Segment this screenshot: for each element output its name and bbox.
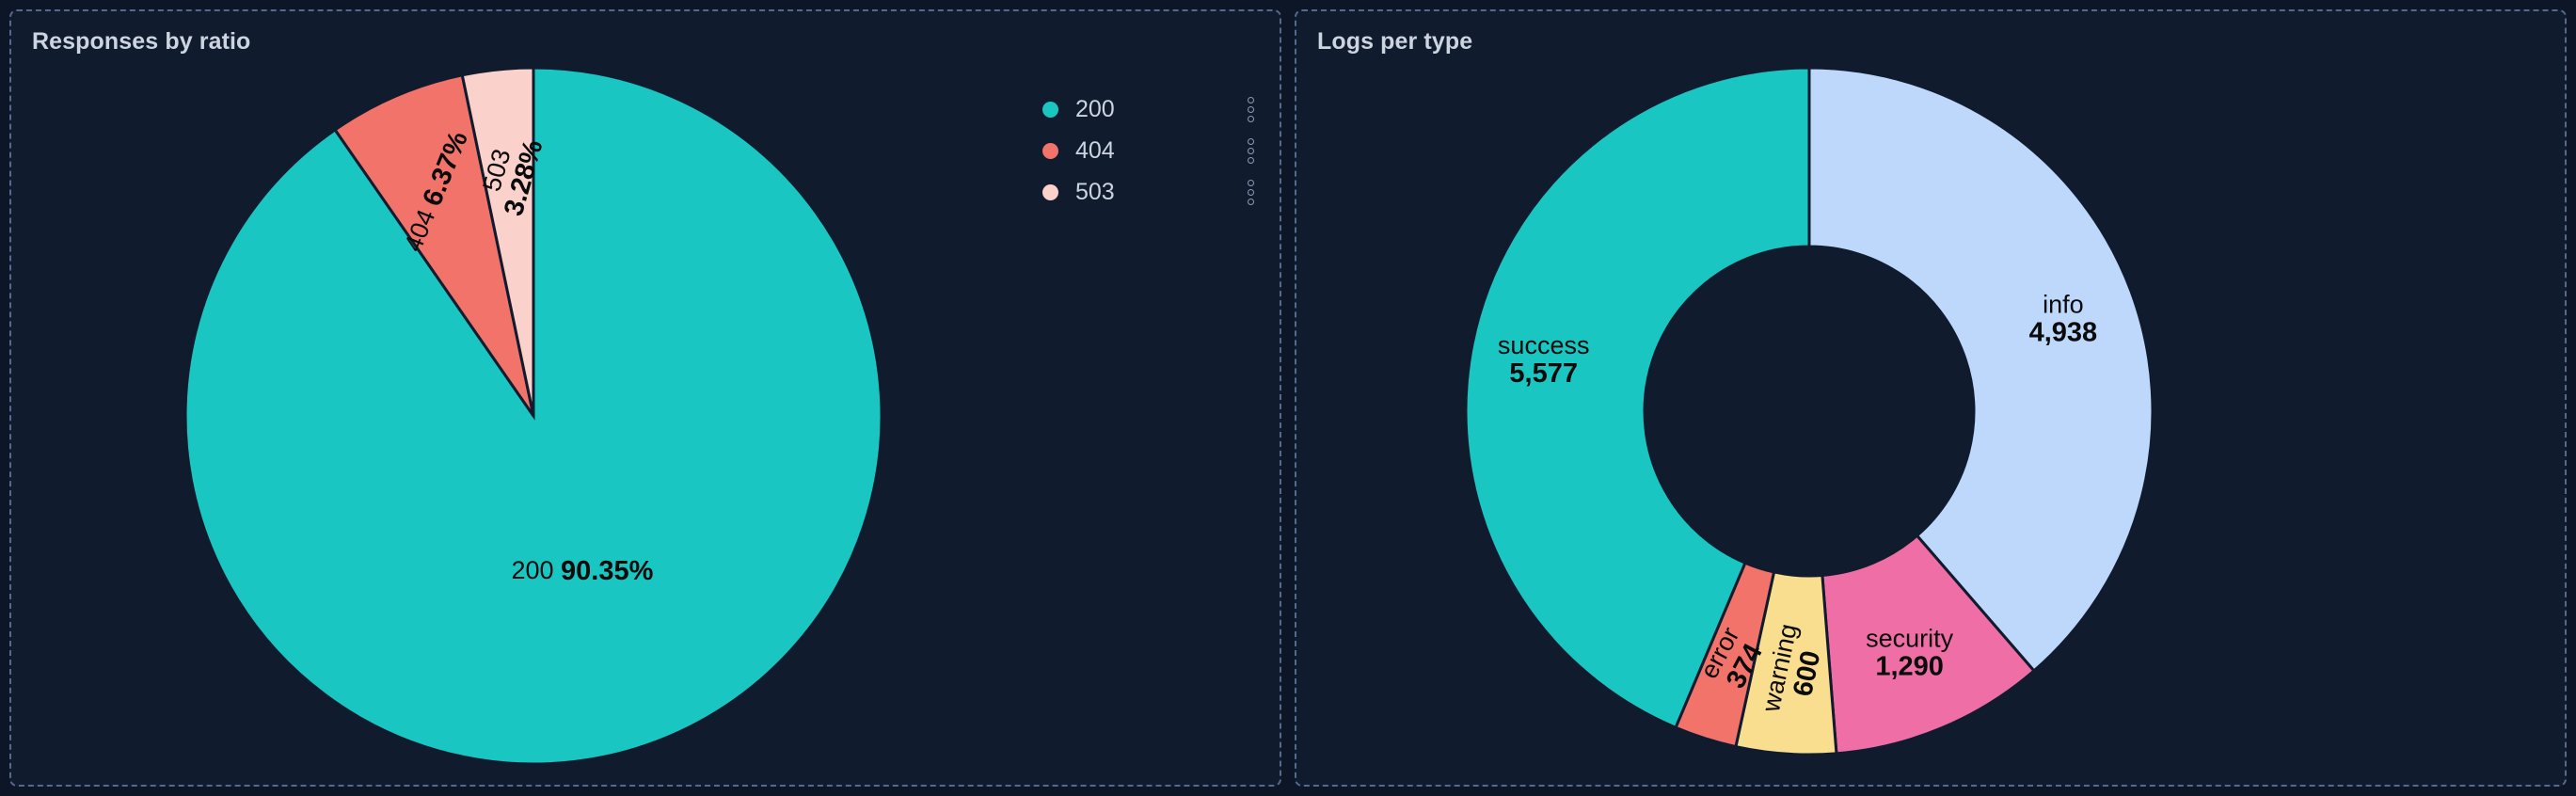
legend-item-label: 404 <box>1075 137 1115 165</box>
legend-item-503[interactable]: 503 <box>1042 171 1268 213</box>
svg-text:security: security <box>1866 625 1954 653</box>
legend-color-swatch <box>1042 143 1058 159</box>
legend-item-label: 200 <box>1075 96 1115 123</box>
legend-color-swatch <box>1042 184 1058 200</box>
panel-logs-per-type: Logs per type info4,938security1,290warn… <box>1295 9 2567 787</box>
three-dots-vertical-icon[interactable] <box>1242 95 1259 123</box>
svg-text:success: success <box>1498 331 1590 359</box>
legend-item-404[interactable]: 404 <box>1042 130 1268 171</box>
slice-label-200: 200 90.35% <box>511 556 653 586</box>
svg-text:1,290: 1,290 <box>1875 652 1944 682</box>
panel-responses-by-ratio: Responses by ratio 200 90.35%404 6.37%50… <box>9 9 1281 787</box>
dashboard: Responses by ratio 200 90.35%404 6.37%50… <box>0 0 2576 796</box>
legend-color-swatch <box>1042 102 1058 118</box>
slice-label-success: success5,577 <box>1498 331 1590 389</box>
three-dots-vertical-icon[interactable] <box>1242 178 1259 206</box>
svg-text:5,577: 5,577 <box>1509 358 1578 389</box>
chart-legend: 200404503 <box>1042 88 1268 213</box>
slice-label-security: security1,290 <box>1866 625 1954 682</box>
svg-text:200 90.35%: 200 90.35% <box>511 556 653 586</box>
svg-text:4,938: 4,938 <box>2029 317 2098 347</box>
donut-chart-svg[interactable]: info4,938security1,290warning600error374… <box>1296 11 2565 785</box>
legend-item-200[interactable]: 200 <box>1042 88 1268 130</box>
svg-text:info: info <box>2043 290 2084 318</box>
legend-item-label: 503 <box>1075 179 1115 206</box>
three-dots-vertical-icon[interactable] <box>1242 136 1259 165</box>
donut-chart-logs[interactable]: info4,938security1,290warning600error374… <box>1296 11 2565 785</box>
